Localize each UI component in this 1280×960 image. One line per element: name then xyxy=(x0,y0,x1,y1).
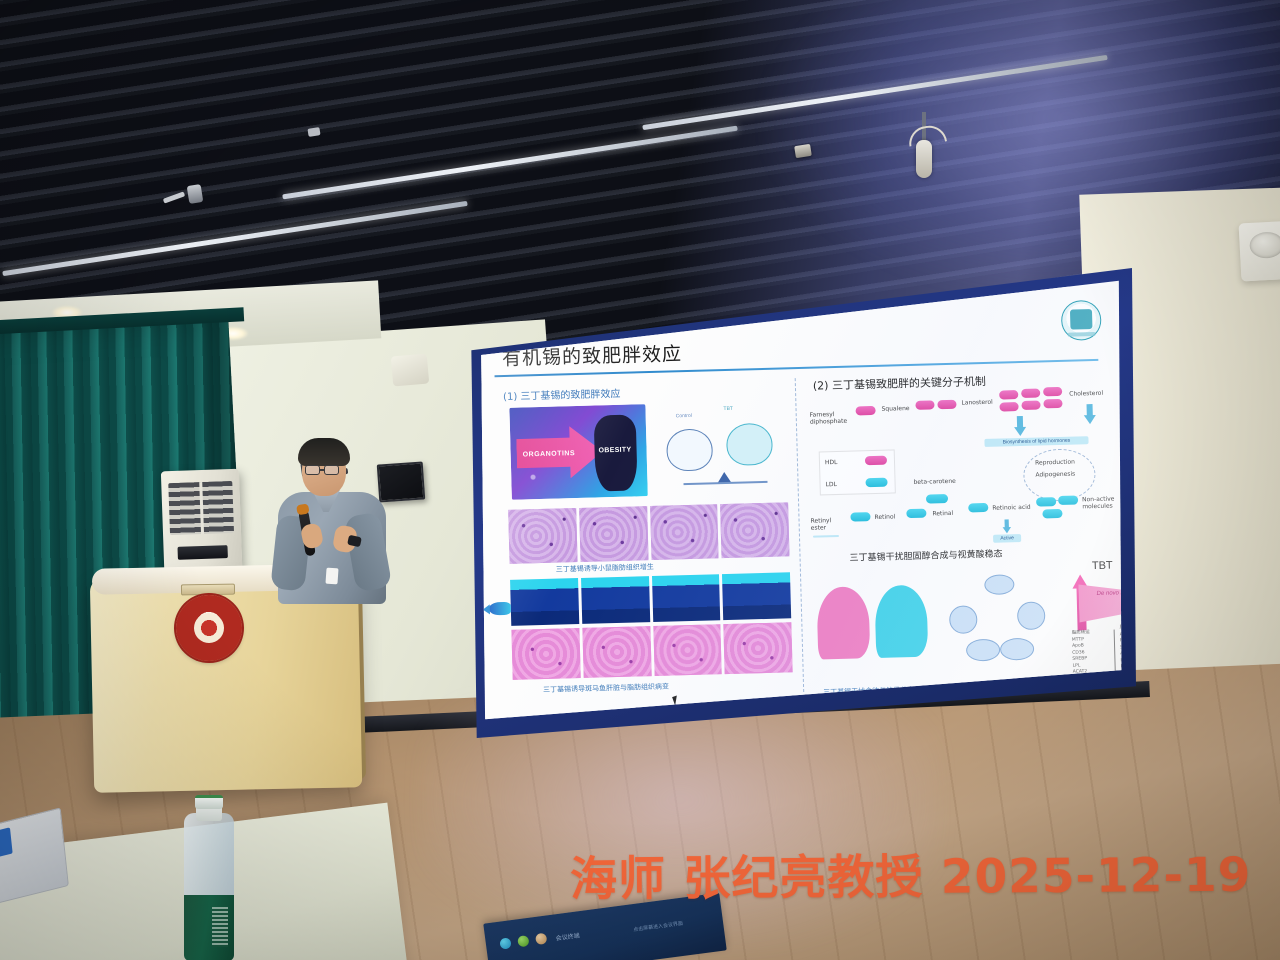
pathway-label-farnesyl: Farnesyl diphosphate xyxy=(810,411,850,426)
pathway-label-cholesterol: Cholesterol xyxy=(1069,390,1103,398)
head-silhouette-pink-icon xyxy=(816,586,870,659)
mouse-treated-label: TBT xyxy=(723,406,733,412)
enzyme-pill xyxy=(1036,497,1056,507)
histology-row-liver xyxy=(510,572,791,626)
wall-speaker-icon xyxy=(1239,221,1280,282)
histology-cell xyxy=(581,576,650,624)
network-node xyxy=(1000,638,1035,661)
terminal-subtitle: 点击屏幕进入会议界面 xyxy=(633,920,684,933)
left-caption-1: 三丁基锡诱导小鼠脂肪组织增生 xyxy=(556,562,654,575)
bottle-label xyxy=(184,895,234,960)
pathway-label-hdl: HDL xyxy=(825,459,838,466)
molecular-mechanism-diagram: Farnesyl diphosphate Squalene Lanosterol… xyxy=(807,386,1111,554)
enzyme-pill xyxy=(850,512,870,522)
histology-cell xyxy=(724,622,793,674)
enzyme-pill xyxy=(865,478,887,488)
enzyme-pill xyxy=(906,509,926,519)
enzyme-pill xyxy=(1043,399,1062,409)
histology-row-tissue xyxy=(511,622,792,680)
enzyme-pill xyxy=(968,503,988,513)
down-arrow-icon xyxy=(1084,404,1097,424)
zebrafish-icon xyxy=(489,602,511,616)
histology-cell xyxy=(653,624,722,676)
figure-baseline xyxy=(684,481,768,485)
pathway-label-retinoic: Retinoic acid xyxy=(992,504,1031,512)
mouse-comparison-figure: Control TBT xyxy=(659,400,787,495)
ceiling-microphone-icon xyxy=(922,112,926,142)
left-column-subtitle: (1) 三丁基锡的致肥胖效应 xyxy=(503,385,621,403)
lipogenesis-wedge xyxy=(1078,582,1124,622)
ac-display-panel xyxy=(177,545,227,560)
histology-cell xyxy=(510,578,579,626)
mouse-treated-icon xyxy=(726,423,773,466)
podium-nameplate xyxy=(181,584,235,596)
enzyme-pill xyxy=(999,402,1018,412)
pathway-label-retinal: Retinal xyxy=(932,510,953,518)
neural-network-diagram xyxy=(940,571,1059,680)
network-node xyxy=(984,574,1015,595)
brain-metabolism-figure: TBT De novo lipogenesis 脂质转运MTTPApoBCD36… xyxy=(812,570,1115,690)
ceiling-spotlight-icon xyxy=(187,184,204,204)
projection-screen[interactable]: 有机锡的致肥胖效应 (1) 三丁基锡的致肥胖效应 ORGANOTINS OBES… xyxy=(476,279,1124,721)
glasses-bridge xyxy=(320,469,325,471)
histology-cell xyxy=(582,626,651,678)
highlight-enzyme xyxy=(813,535,839,538)
ceiling-camera-icon xyxy=(794,144,812,158)
enzyme-pill xyxy=(1043,387,1062,397)
network-node xyxy=(949,605,978,634)
wall-speaker-icon xyxy=(391,353,429,386)
enzyme-pill xyxy=(915,400,934,410)
enzyme-pill xyxy=(865,456,887,466)
pathway-label-carotene: beta-carotene xyxy=(913,478,955,486)
obesity-label: OBESITY xyxy=(599,447,632,455)
status-dot-icon xyxy=(535,933,547,945)
enzyme-pill xyxy=(1021,400,1040,410)
water-bottle xyxy=(182,795,236,960)
presenter xyxy=(272,440,392,600)
mouse-control-label: Control xyxy=(676,413,692,419)
tbt-label: TBT xyxy=(1092,560,1113,573)
pathway-label-retinol: Retinol xyxy=(874,513,895,521)
histology-cell xyxy=(579,506,648,562)
enzyme-pill xyxy=(1021,388,1040,398)
lipogenesis-label: De novo lipogenesis xyxy=(1097,589,1124,598)
pathway-label-nonactive: Non-active molecules xyxy=(1082,495,1116,510)
organotins-label: ORGANOTINS xyxy=(523,450,576,458)
right-caption-3: 三丁基锡干扰胆固醇合成与视黄酸稳态 xyxy=(849,547,1002,564)
university-seal-icon xyxy=(1061,300,1102,341)
tbt-lipogenesis-panel: TBT De novo lipogenesis 脂质转运MTTPApoBCD36… xyxy=(1062,560,1124,687)
down-arrow-icon xyxy=(1014,416,1027,436)
glasses-icon xyxy=(305,465,320,475)
enzyme-pill xyxy=(937,400,956,410)
glasses-icon xyxy=(324,465,339,475)
column-divider xyxy=(795,378,804,692)
down-arrow-icon xyxy=(1002,519,1011,533)
histology-cell xyxy=(652,574,721,622)
network-node xyxy=(1017,601,1046,630)
highlight-biosynthesis: Biosynthesis of lipid hormones xyxy=(984,436,1088,447)
bottle-cap xyxy=(195,795,223,809)
histology-cell xyxy=(650,504,719,560)
enzyme-pill xyxy=(855,406,875,416)
enzyme-pill xyxy=(1042,509,1062,519)
name-badge xyxy=(325,568,338,585)
presentation-slide: 有机锡的致肥胖效应 (1) 三丁基锡的致肥胖效应 ORGANOTINS OBES… xyxy=(476,285,1124,721)
status-dot-icon xyxy=(517,935,529,947)
enzyme-pill xyxy=(1058,495,1078,505)
status-dot-icon xyxy=(499,937,511,949)
caption-overlay: 海师 张纪亮教授 2025-12-19 xyxy=(570,836,1252,910)
histology-block-zebrafish xyxy=(510,572,793,684)
lecture-hall-scene: 有机锡的致肥胖效应 (1) 三丁基锡的致肥胖效应 ORGANOTINS OBES… xyxy=(0,0,1280,960)
head-silhouette-cyan-icon xyxy=(874,585,928,658)
pathway-label-adipogenesis: Adipogenesis xyxy=(1035,471,1075,479)
histology-cell xyxy=(508,508,577,564)
pathway-label-retinylester: Retinyl ester xyxy=(810,517,846,532)
mouse-control-icon xyxy=(666,428,713,471)
pathway-label-lanosterol: Lanosterol xyxy=(961,399,993,407)
left-caption-2: 三丁基锡诱导斑马鱼肝脏与脂肪组织病变 xyxy=(543,682,669,695)
histology-cell xyxy=(720,502,789,558)
enzyme-pill xyxy=(999,390,1018,400)
histology-row-adipose xyxy=(508,502,789,564)
highlight-active: Active xyxy=(993,534,1021,543)
histology-cell xyxy=(722,572,791,620)
histology-cell xyxy=(511,628,580,680)
terminal-title: 会议终端 xyxy=(555,930,580,942)
presenter-hair xyxy=(298,438,350,466)
network-node xyxy=(966,639,1001,662)
pathway-label-squalene: Squalene xyxy=(881,405,909,413)
pathway-label-ldl: LDL xyxy=(826,481,837,488)
enzyme-pill xyxy=(926,494,948,504)
pathway-label-reproduction: Reproduction xyxy=(1035,459,1075,467)
